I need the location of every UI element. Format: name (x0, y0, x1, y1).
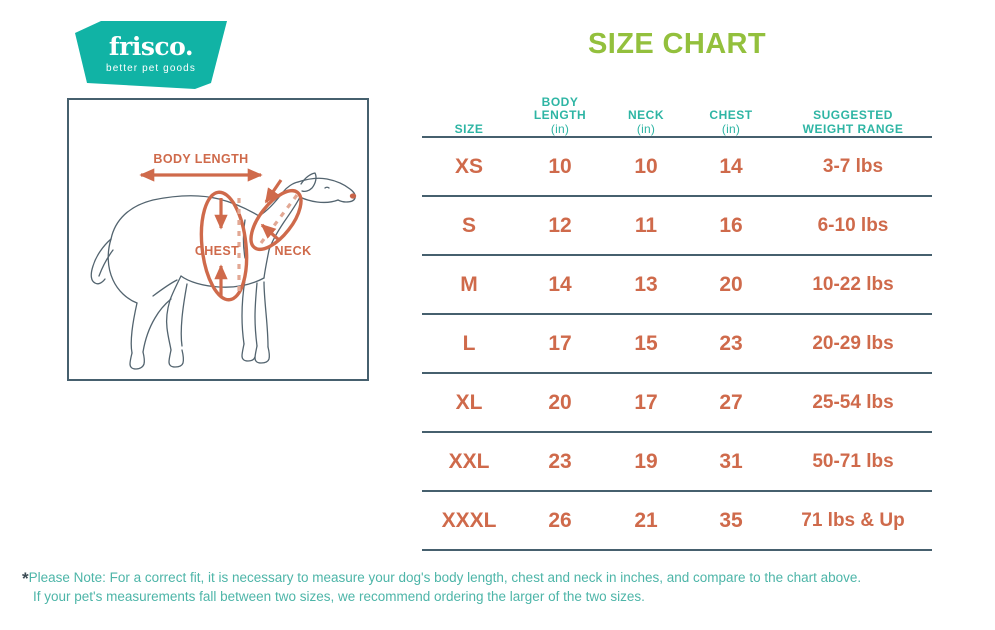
column-header-size-label: SIZE (455, 122, 484, 136)
label-body-length: BODY LENGTH (153, 152, 248, 166)
cell-chest: 16 (688, 214, 774, 238)
table-row: XS1010143-7 lbs (422, 138, 932, 195)
frisco-logo: frisco. better pet goods (75, 21, 227, 89)
cell-weight: 50-71 lbs (774, 451, 932, 473)
column-header-neck-unit: (in) (604, 123, 688, 136)
page-title: SIZE CHART (422, 28, 932, 61)
column-header-chest-label: CHEST (709, 108, 752, 122)
column-header-body-length: BODY LENGTH (in) (516, 96, 604, 136)
cell-neck: 13 (604, 273, 688, 297)
footnote: *Please Note: For a correct fit, it is n… (22, 568, 972, 606)
column-header-weight-range: SUGGESTED WEIGHT RANGE (774, 109, 932, 136)
column-header-weight-line1: SUGGESTED (813, 108, 893, 122)
table-row-divider (422, 549, 932, 551)
cell-body: 10 (516, 155, 604, 179)
cell-size: XS (422, 155, 516, 179)
cell-chest: 35 (688, 509, 774, 533)
column-header-chest: CHEST (in) (688, 109, 774, 136)
table-row: XXL23193150-71 lbs (422, 433, 932, 490)
cell-chest: 23 (688, 332, 774, 356)
column-header-size: SIZE (422, 123, 516, 136)
cell-weight: 6-10 lbs (774, 215, 932, 237)
table-row: S1211166-10 lbs (422, 197, 932, 254)
cell-body: 14 (516, 273, 604, 297)
footnote-line-2: If your pet's measurements fall between … (22, 587, 972, 606)
column-header-chest-unit: (in) (688, 123, 774, 136)
table-row: L17152320-29 lbs (422, 315, 932, 372)
column-header-weight-line2: WEIGHT RANGE (803, 122, 904, 136)
cell-body: 12 (516, 214, 604, 238)
cell-body: 20 (516, 391, 604, 415)
cell-neck: 10 (604, 155, 688, 179)
table-header-row: SIZE BODY LENGTH (in) NECK (in) CHEST (i… (422, 86, 932, 136)
table-row: M14132010-22 lbs (422, 256, 932, 313)
column-header-body-line2: LENGTH (534, 108, 586, 122)
cell-size: XXL (422, 450, 516, 474)
cell-body: 23 (516, 450, 604, 474)
table-row: XL20172725-54 lbs (422, 374, 932, 431)
cell-weight: 20-29 lbs (774, 333, 932, 355)
column-header-body-line1: BODY (542, 95, 579, 109)
footnote-asterisk: * (22, 569, 29, 588)
cell-weight: 25-54 lbs (774, 392, 932, 414)
cell-weight: 71 lbs & Up (774, 510, 932, 532)
table-row: XXXL26213571 lbs & Up (422, 492, 932, 549)
cell-weight: 3-7 lbs (774, 156, 932, 178)
cell-chest: 20 (688, 273, 774, 297)
logo-badge-shape (75, 21, 227, 89)
cell-neck: 17 (604, 391, 688, 415)
label-neck: NECK (274, 244, 311, 258)
dog-measurement-diagram: BODY LENGTH CHEST NECK (67, 98, 369, 381)
cell-neck: 19 (604, 450, 688, 474)
cell-chest: 14 (688, 155, 774, 179)
size-chart-table: SIZE BODY LENGTH (in) NECK (in) CHEST (i… (422, 86, 932, 551)
cell-body: 17 (516, 332, 604, 356)
dog-outline (91, 173, 356, 369)
cell-neck: 11 (604, 214, 688, 238)
dog-diagram-svg: BODY LENGTH CHEST NECK (69, 100, 371, 383)
cell-chest: 31 (688, 450, 774, 474)
label-chest: CHEST (195, 244, 239, 258)
cell-weight: 10-22 lbs (774, 274, 932, 296)
cell-size: L (422, 332, 516, 356)
table-body: XS1010143-7 lbsS1211166-10 lbsM14132010-… (422, 136, 932, 551)
cell-neck: 15 (604, 332, 688, 356)
column-header-body-unit: (in) (516, 123, 604, 136)
cell-size: XL (422, 391, 516, 415)
cell-body: 26 (516, 509, 604, 533)
footnote-line-1: Please Note: For a correct fit, it is ne… (29, 570, 862, 585)
cell-neck: 21 (604, 509, 688, 533)
column-header-neck: NECK (in) (604, 109, 688, 136)
cell-size: S (422, 214, 516, 238)
cell-size: M (422, 273, 516, 297)
cell-chest: 27 (688, 391, 774, 415)
cell-size: XXXL (422, 509, 516, 533)
size-chart-sheet: frisco. better pet goods (0, 0, 995, 630)
column-header-neck-label: NECK (628, 108, 664, 122)
